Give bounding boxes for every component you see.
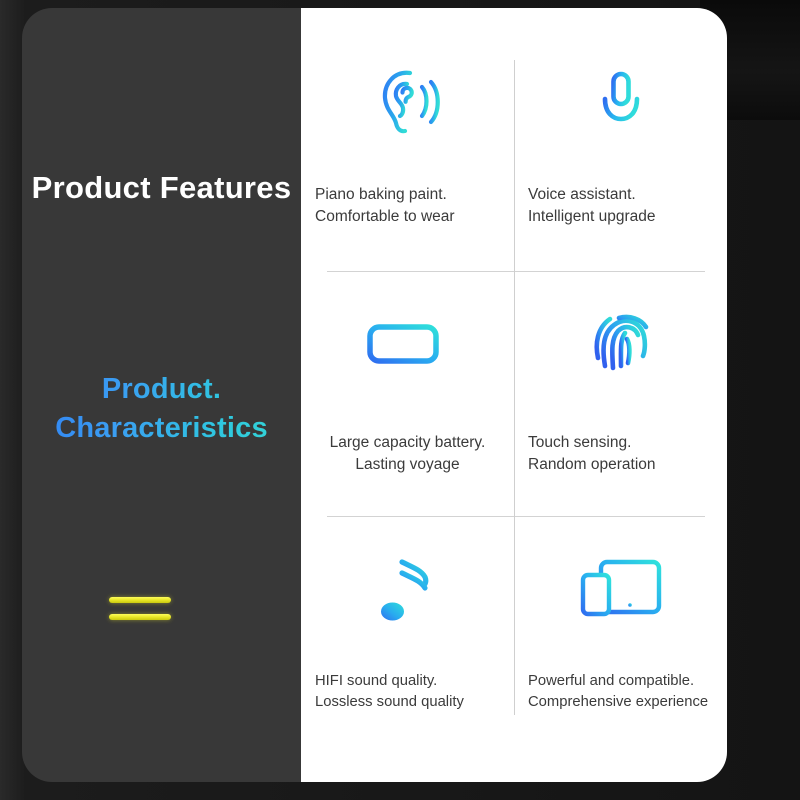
- page-title: Product Features: [22, 168, 301, 209]
- microphone-voice-icon: [514, 46, 727, 154]
- page-subtitle: Product. Characteristics: [22, 370, 301, 448]
- ear-icon: [301, 46, 514, 154]
- feature-caption: Touch sensing. Random operation: [514, 432, 662, 476]
- feature-item-battery: Large capacity battery. Lasting voyage: [301, 290, 514, 524]
- feature-item-sound: HIFI sound quality. Lossless sound quali…: [301, 535, 514, 755]
- equals-bar-bottom: [109, 614, 171, 620]
- feature-caption: Powerful and compatible. Comprehensive e…: [514, 671, 714, 713]
- infographic-canvas: Product Features Product. Characteristic…: [0, 0, 800, 800]
- feature-caption: Large capacity battery. Lasting voyage: [324, 432, 492, 476]
- feature-item-ear: Piano baking paint. Comfortable to wear: [301, 46, 514, 279]
- left-title-panel: Product Features Product. Characteristic…: [22, 8, 301, 782]
- backdrop-left-edge: [0, 0, 24, 800]
- equals-mark-icon: [109, 597, 171, 620]
- feature-item-voice: Voice assistant. Intelligent upgrade: [514, 46, 727, 279]
- monitor-phone-icon: [514, 535, 727, 643]
- music-note-equalizer-icon: [301, 535, 514, 643]
- feature-item-fingerprint: Touch sensing. Random operation: [514, 290, 727, 524]
- feature-item-compatibility: Powerful and compatible. Comprehensive e…: [514, 535, 727, 755]
- feature-caption: Piano baking paint. Comfortable to wear: [301, 184, 461, 228]
- battery-icon: [301, 290, 514, 398]
- equals-bar-top: [109, 597, 171, 603]
- feature-grid-panel: Piano baking paint. Comfortable to wear: [301, 8, 727, 782]
- feature-grid: Piano baking paint. Comfortable to wear: [301, 8, 727, 782]
- feature-caption: HIFI sound quality. Lossless sound quali…: [301, 671, 470, 713]
- fingerprint-icon: [514, 290, 727, 398]
- feature-caption: Voice assistant. Intelligent upgrade: [514, 184, 662, 228]
